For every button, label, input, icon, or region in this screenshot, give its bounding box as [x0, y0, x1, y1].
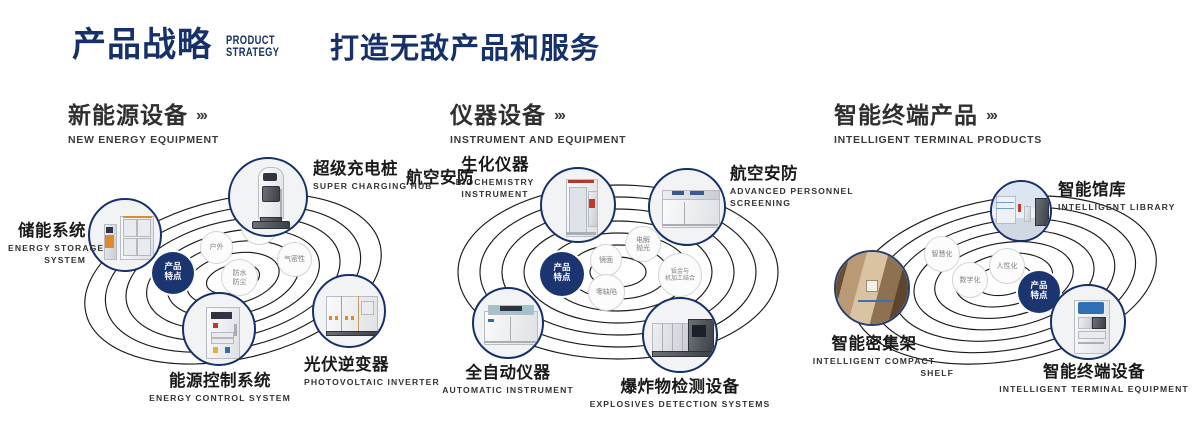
node-super-charging-hub[interactable] [228, 157, 308, 237]
caption-intelligent-terminal-equipment: 智能终端设备 INTELLIGENT TERMINAL EQUIPMENT [988, 358, 1200, 394]
caption-intelligent-compact-shelf: 智能密集架 INTELLIGENT COMPACT SHELF [794, 330, 954, 378]
node-advanced-personnel-screening[interactable] [648, 168, 726, 246]
section-title-en: NEW ENERGY EQUIPMENT [68, 134, 219, 146]
feature-bubble: 镜面 [590, 244, 622, 276]
caption-explosives-detection-systems: 爆炸物检测设备 EXPLOSIVES DETECTION SYSTEMS [580, 373, 780, 409]
feature-bubble: 户外 [200, 231, 233, 264]
chevron-right-icon: ››› [986, 107, 996, 125]
caption-cn: 储能系统 [8, 217, 86, 241]
caption-cn: 智能馆库 [1058, 176, 1176, 200]
core-bubble-text: 产品特点 [1030, 282, 1047, 302]
pv-inverter-artwork [314, 276, 384, 346]
caption-en-line1: INTELLIGENT COMPACT [794, 356, 954, 366]
node-photovoltaic-inverter[interactable] [312, 274, 386, 348]
caption-aviation-security-left: 航空安防 [406, 164, 474, 188]
feature-bubble: 智慧化 [924, 236, 960, 272]
core-bubble-text: 产品特点 [553, 264, 570, 284]
section-title-intelligent-terminal: 智能终端产品››› INTELLIGENT TERMINAL PRODUCTS [834, 96, 1042, 146]
caption-en-line1: ENERGY CONTROL SYSTEM [90, 393, 350, 403]
node-intelligent-compact-shelf[interactable] [834, 250, 910, 326]
section-title-en: INSTRUMENT AND EQUIPMENT [450, 134, 626, 146]
caption-energy-control-system: 能源控制系统 ENERGY CONTROL SYSTEM [90, 367, 350, 403]
explosives-detection-artwork [644, 299, 716, 371]
feature-bubble: 防水防尘 [221, 259, 258, 296]
brand-title-cn: 产品战略 [72, 28, 212, 62]
caption-automatic-instrument: 全自动仪器 AUTOMATIC INSTRUMENT [408, 359, 608, 395]
chevron-right-icon: ››› [554, 107, 564, 125]
section-title-new-energy: 新能源设备››› NEW ENERGY EQUIPMENT [68, 96, 219, 146]
caption-en-line2: SHELF [794, 368, 954, 378]
caption-en-line2: INSTRUMENT [400, 189, 590, 199]
core-bubble: 产品特点 [540, 252, 584, 296]
headline: 打造无敌产品和服务 [330, 33, 600, 65]
caption-cn: 爆炸物检测设备 [580, 373, 780, 397]
caption-en-line2: SYSTEM [8, 255, 86, 265]
brand-title-en: PRODUCT STRATEGY [226, 34, 279, 62]
section-title-instrument: 仪器设备››› INSTRUMENT AND EQUIPMENT [450, 96, 626, 146]
caption-en-line1: INTELLIGENT TERMINAL EQUIPMENT [988, 384, 1200, 394]
energy-storage-artwork [90, 200, 160, 270]
core-bubble-text: 产品特点 [164, 263, 181, 283]
caption-intelligent-library: 智能馆库 INTELLIGENT LIBRARY [1058, 176, 1176, 212]
caption-en-line1: AUTOMATIC INSTRUMENT [408, 385, 608, 395]
section-title-cn: 智能终端产品 [834, 96, 978, 130]
feature-bubble: 人性化 [989, 248, 1025, 284]
product-strategy-infographic: 产品战略 PRODUCT STRATEGY 打造无敌产品和服务 新能源设备›››… [0, 0, 1200, 422]
terminal-equipment-artwork [1052, 286, 1124, 358]
feature-bubble: 钣金与机加工结合 [658, 253, 702, 297]
caption-en-line1: INTELLIGENT LIBRARY [1058, 202, 1176, 212]
caption-cn: 智能密集架 [794, 330, 954, 354]
feature-bubble: 气密性 [277, 242, 312, 277]
caption-cn: 智能终端设备 [988, 358, 1200, 382]
caption-cn: 全自动仪器 [408, 359, 608, 383]
feature-bubble: 零缺陷 [588, 274, 625, 311]
charging-hub-artwork [230, 159, 306, 235]
caption-en-line1: ENERGY STORAGE [8, 243, 86, 253]
chevron-right-icon: ››› [196, 107, 206, 125]
node-explosives-detection-systems[interactable] [642, 297, 718, 373]
screening-artwork [650, 170, 724, 244]
brand-title-en-line2: STRATEGY [226, 46, 279, 58]
section-title-cn: 仪器设备 [450, 96, 546, 130]
section-title-en: INTELLIGENT TERMINAL PRODUCTS [834, 134, 1042, 146]
caption-energy-storage-system: 储能系统 ENERGY STORAGE SYSTEM [8, 217, 86, 265]
node-intelligent-terminal-equipment[interactable] [1050, 284, 1126, 360]
cluster-new-energy: 产品特点 户外 防腐防锈 防水防尘 气密性 [55, 155, 445, 405]
section-title-cn: 新能源设备 [68, 96, 188, 130]
cluster-intelligent-terminal: 智慧化 数字化 人性化 产品特点 智能馆库 INTELLIGENT LIB [812, 158, 1200, 408]
node-intelligent-library[interactable] [990, 180, 1052, 242]
caption-cn: 航空安防 [406, 164, 474, 188]
node-automatic-instrument[interactable] [472, 287, 544, 359]
energy-control-artwork [184, 294, 254, 364]
compact-shelf-artwork [836, 252, 908, 324]
automatic-instrument-artwork [474, 289, 542, 357]
cluster-instrument: 产品特点 镜面 电解抛光 零缺陷 钣金与机加工结合 生化仪器 [418, 152, 818, 402]
library-artwork [992, 182, 1050, 240]
node-energy-storage-system[interactable] [88, 198, 162, 272]
caption-cn: 能源控制系统 [90, 367, 350, 391]
node-energy-control-system[interactable] [182, 292, 256, 366]
brand-header: 产品战略 PRODUCT STRATEGY [72, 28, 294, 62]
caption-en-line1: EXPLOSIVES DETECTION SYSTEMS [580, 399, 780, 409]
feature-bubble: 数字化 [952, 262, 988, 298]
